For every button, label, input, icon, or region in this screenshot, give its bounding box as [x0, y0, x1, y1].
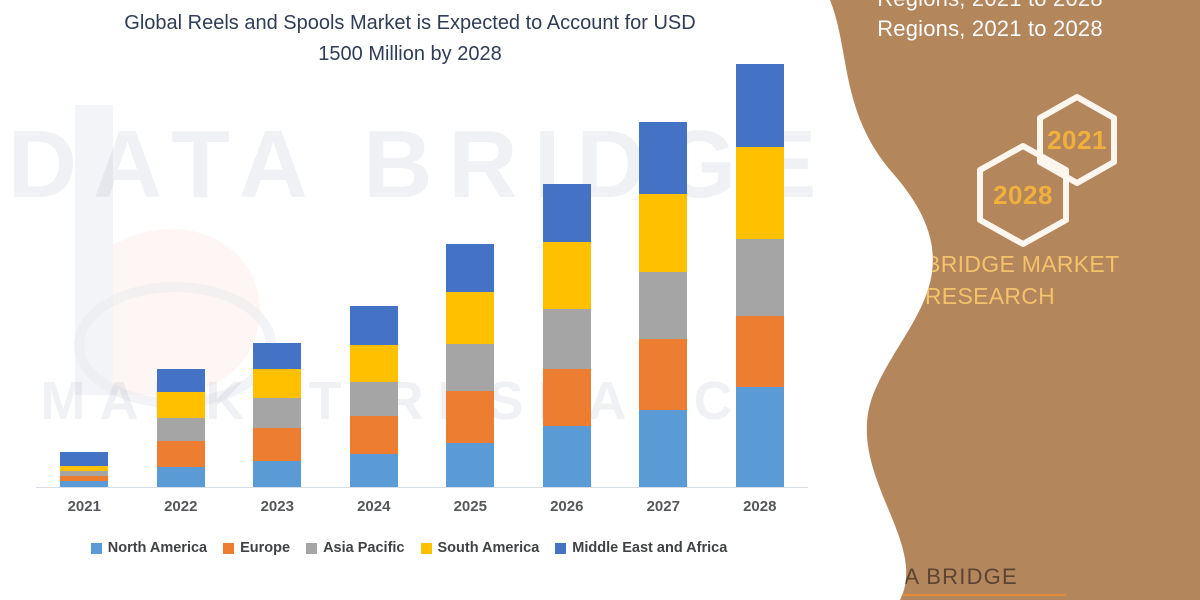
- bar-segment: [543, 426, 591, 487]
- legend-label: Asia Pacific: [323, 540, 404, 556]
- legend-swatch-icon: [421, 543, 432, 554]
- bar-segment: [253, 369, 301, 399]
- panel-title: Regions, 2021 to 2028 Regions, 2021 to 2…: [780, 0, 1200, 44]
- bar-segment: [543, 184, 591, 242]
- bar-segment: [157, 441, 205, 467]
- legend-swatch-icon: [91, 543, 102, 554]
- bar-segment: [60, 452, 108, 466]
- brand-panel: Regions, 2021 to 2028 Regions, 2021 to 2…: [780, 0, 1200, 600]
- legend-label: Europe: [240, 540, 290, 556]
- bar-segment: [639, 339, 687, 409]
- stacked-bar-2028: [736, 64, 784, 487]
- x-axis-label-2021: 2021: [36, 498, 132, 515]
- logo-underline: [860, 594, 1066, 596]
- x-axis-label-2024: 2024: [326, 498, 422, 515]
- bar-segment: [543, 369, 591, 426]
- stacked-bar-2026: [543, 184, 591, 487]
- bar-segment: [253, 428, 301, 461]
- hexagon-2021-label: 2021: [1033, 92, 1121, 188]
- stacked-bar-2027: [639, 122, 687, 487]
- legend-swatch-icon: [306, 543, 317, 554]
- bar-segment: [736, 387, 784, 487]
- legend-item[interactable]: South America: [421, 540, 540, 556]
- legend-item[interactable]: Asia Pacific: [306, 540, 404, 556]
- bar-segment: [157, 418, 205, 441]
- stacked-bar-2021: [60, 452, 108, 487]
- panel-title-line-1: Regions, 2021 to 2028: [794, 0, 1186, 14]
- stacked-bar-2024: [350, 306, 398, 487]
- bar-segment: [446, 443, 494, 487]
- bar-segment: [253, 461, 301, 487]
- bar-segment: [639, 122, 687, 195]
- brand-name-line-1: DATA BRIDGE MARKET: [861, 251, 1120, 277]
- panel-title-line-2: Regions, 2021 to 2028: [794, 14, 1186, 44]
- chart-panel: DATA BRIDGE MARKET RESEARCH Global Reels…: [0, 0, 840, 600]
- bar-segment: [736, 316, 784, 387]
- brand-name: DATA BRIDGE MARKET RESEARCH: [780, 248, 1200, 312]
- bar-segment: [350, 345, 398, 382]
- chart-legend: North AmericaEuropeAsia PacificSouth Ame…: [0, 540, 818, 556]
- x-axis-label-2027: 2027: [615, 498, 711, 515]
- legend-label: North America: [108, 540, 207, 556]
- bar-segment: [639, 194, 687, 271]
- legend-label: Middle East and Africa: [572, 540, 727, 556]
- bar-segment: [350, 306, 398, 345]
- bar-segment: [543, 309, 591, 369]
- bar-segment: [253, 343, 301, 369]
- stacked-bar-2023: [253, 343, 301, 487]
- plot-area: [36, 60, 806, 487]
- x-axis-label-2028: 2028: [712, 498, 808, 515]
- logo-lockup: DATA BRIDGE MARKET RESEARCH: [798, 546, 1098, 600]
- legend-label: South America: [438, 540, 540, 556]
- bar-segment: [639, 410, 687, 487]
- x-axis-label-2026: 2026: [519, 498, 615, 515]
- bar-segment: [350, 416, 398, 454]
- bar-segment: [157, 369, 205, 392]
- bar-segment: [446, 244, 494, 292]
- x-axis-label-2022: 2022: [133, 498, 229, 515]
- bar-segment: [446, 292, 494, 344]
- bar-segment: [543, 242, 591, 309]
- bar-segment: [446, 391, 494, 443]
- bar-segment: [350, 454, 398, 487]
- bar-segment: [736, 239, 784, 316]
- logo-text: DATA BRIDGE: [860, 564, 1018, 590]
- legend-swatch-icon: [555, 543, 566, 554]
- legend-item[interactable]: Middle East and Africa: [555, 540, 727, 556]
- x-axis-label-2023: 2023: [229, 498, 325, 515]
- legend-item[interactable]: Europe: [223, 540, 290, 556]
- hexagon-2021: 2021: [1033, 92, 1121, 188]
- legend-swatch-icon: [223, 543, 234, 554]
- bar-segment: [157, 392, 205, 418]
- bar-segment: [639, 272, 687, 340]
- x-axis-label-2025: 2025: [422, 498, 518, 515]
- bar-segment: [446, 344, 494, 391]
- x-axis-labels: 20212022202320242025202620272028: [36, 498, 808, 526]
- bar-segment: [253, 398, 301, 428]
- bar-segment: [736, 64, 784, 148]
- legend-item[interactable]: North America: [91, 540, 207, 556]
- stacked-bar-2022: [157, 369, 205, 487]
- brand-name-line-2: RESEARCH: [925, 283, 1055, 309]
- chart-title-line-1: Global Reels and Spools Market is Expect…: [124, 12, 695, 34]
- x-axis-line: [36, 487, 808, 488]
- bar-segment: [736, 147, 784, 238]
- stacked-bar-2025: [446, 244, 494, 487]
- bar-segment: [350, 382, 398, 415]
- bar-segment: [157, 467, 205, 487]
